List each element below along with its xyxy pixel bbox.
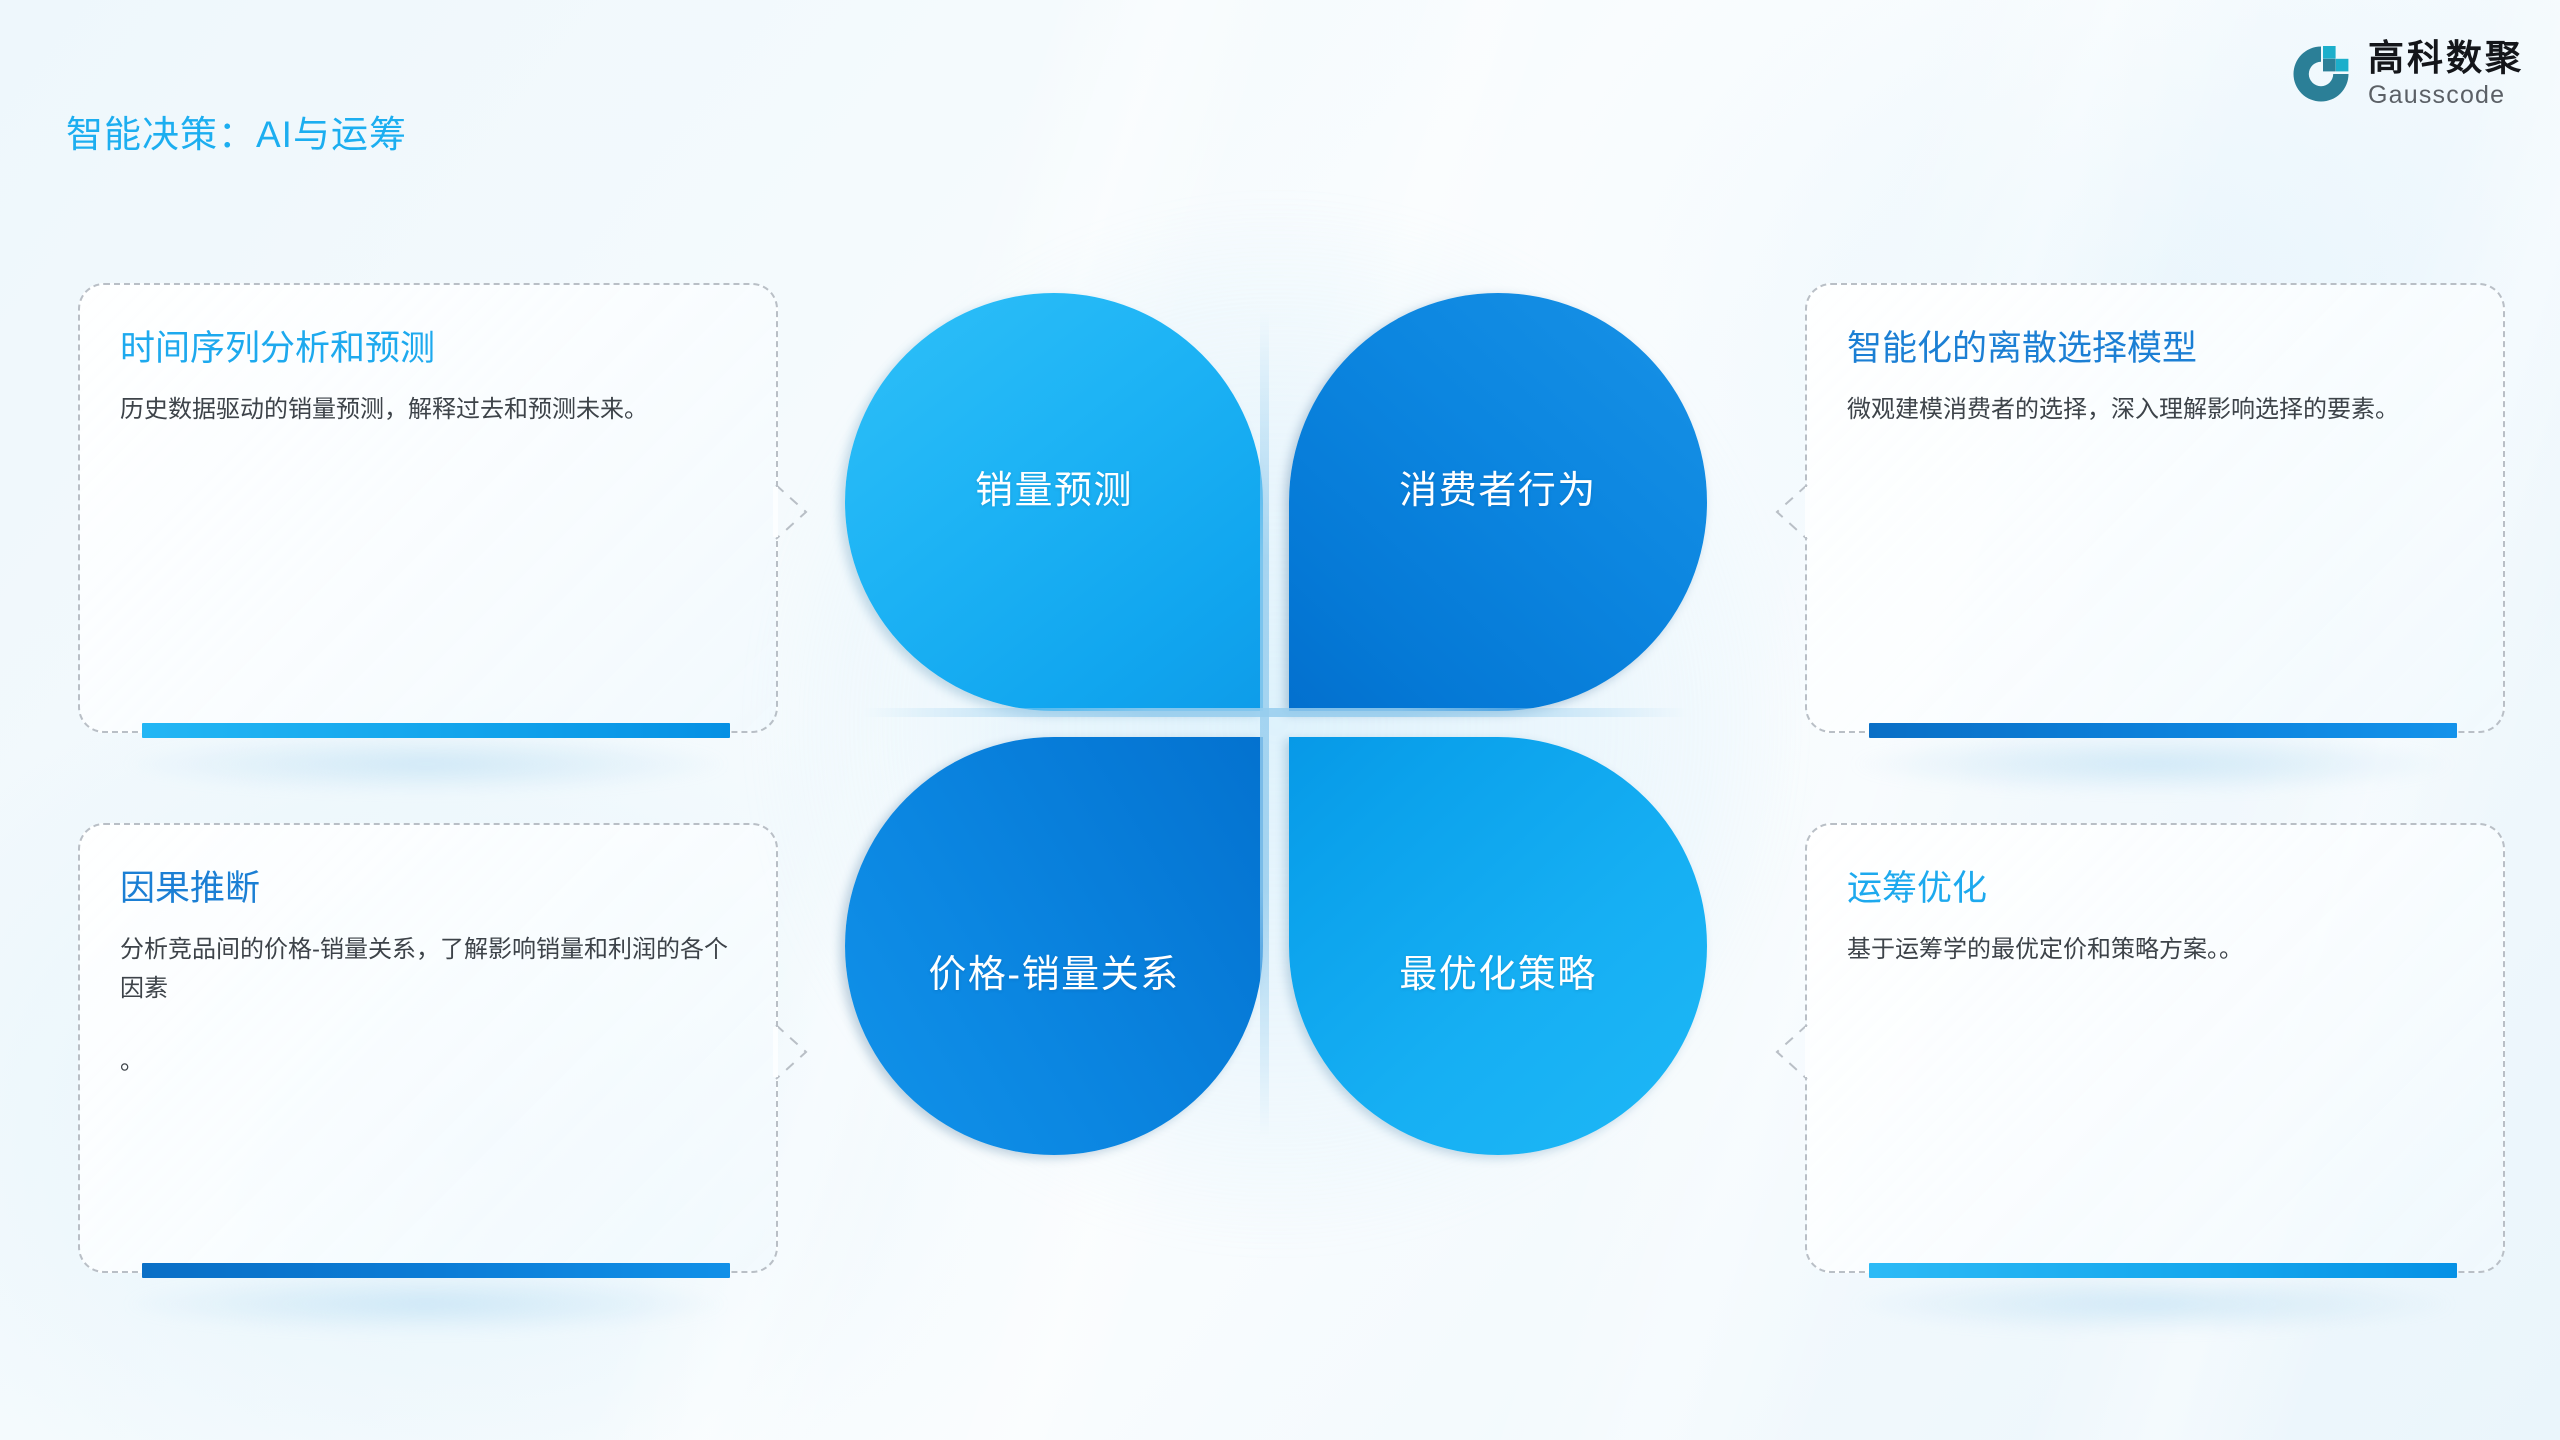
card-body: 因果推断 分析竞品间的价格-销量关系，了解影响销量和利润的各个因素 。	[120, 867, 736, 1081]
brand-logo: 高科数聚 Gausscode	[2290, 40, 2524, 108]
flower-glow	[725, 173, 1827, 1275]
card-accent-bar	[1869, 1263, 2457, 1278]
logo-wordmark: 高科数聚 Gausscode	[2368, 40, 2524, 108]
card-description: 分析竞品间的价格-销量关系，了解影响销量和利润的各个因素	[120, 931, 736, 1009]
logo-name-en: Gausscode	[2368, 83, 2524, 108]
card-glow	[1853, 735, 2453, 793]
card-description-tail: 。	[120, 1043, 736, 1082]
card-description: 历史数据驱动的销量预测，解释过去和预测未来。	[120, 391, 736, 430]
card-causal-inference[interactable]: 因果推断 分析竞品间的价格-销量关系，了解影响销量和利润的各个因素 。	[78, 823, 778, 1273]
card-time-series[interactable]: 时间序列分析和预测 历史数据驱动的销量预测，解释过去和预测未来。	[78, 283, 778, 733]
card-discrete-choice[interactable]: 智能化的离散选择模型 微观建模消费者的选择，深入理解影响选择的要素。	[1805, 283, 2505, 733]
petal-consumer-behavior[interactable]: 消费者行为	[1289, 293, 1707, 711]
page-title: 智能决策：AI与运筹	[66, 104, 407, 158]
petal-label: 价格-销量关系	[845, 943, 1263, 998]
connector-arrow-icon	[1745, 1021, 1807, 1083]
card-body: 时间序列分析和预测 历史数据驱动的销量预测，解释过去和预测未来。	[120, 327, 736, 430]
card-glow	[126, 735, 726, 793]
petal-label: 销量预测	[845, 459, 1263, 514]
card-accent-bar	[1869, 723, 2457, 738]
logo-name-cn: 高科数聚	[2368, 40, 2524, 76]
card-description: 基于运筹学的最优定价和策略方案。。	[1847, 931, 2463, 970]
petal-optimal-strategy[interactable]: 最优化策略	[1289, 737, 1707, 1155]
petal-price-sales-relation[interactable]: 价格-销量关系	[845, 737, 1263, 1155]
petal-label: 最优化策略	[1289, 943, 1707, 998]
petal-sales-forecast[interactable]: 销量预测	[845, 293, 1263, 711]
card-title: 智能化的离散选择模型	[1847, 327, 2463, 371]
card-operations-research[interactable]: 运筹优化 基于运筹学的最优定价和策略方案。。	[1805, 823, 2505, 1273]
card-description: 微观建模消费者的选择，深入理解影响选择的要素。	[1847, 391, 2463, 430]
four-petal-diagram: 销量预测 消费者行为 价格-销量关系 最优化策略	[845, 293, 1707, 1155]
card-title: 因果推断	[120, 867, 736, 911]
card-glow	[1853, 1275, 2453, 1333]
card-title: 运筹优化	[1847, 867, 2463, 911]
petal-label: 消费者行为	[1289, 459, 1707, 514]
card-title: 时间序列分析和预测	[120, 327, 736, 371]
card-glow	[126, 1275, 726, 1333]
card-body: 智能化的离散选择模型 微观建模消费者的选择，深入理解影响选择的要素。	[1847, 327, 2463, 430]
gausscode-logo-icon	[2290, 43, 2352, 105]
card-accent-bar	[142, 1263, 730, 1278]
card-body: 运筹优化 基于运筹学的最优定价和策略方案。。	[1847, 867, 2463, 970]
card-accent-bar	[142, 723, 730, 738]
slide-canvas: 智能决策：AI与运筹 高科数聚 Gausscode 时间序列分析和预测 历史数据…	[0, 0, 2560, 1440]
